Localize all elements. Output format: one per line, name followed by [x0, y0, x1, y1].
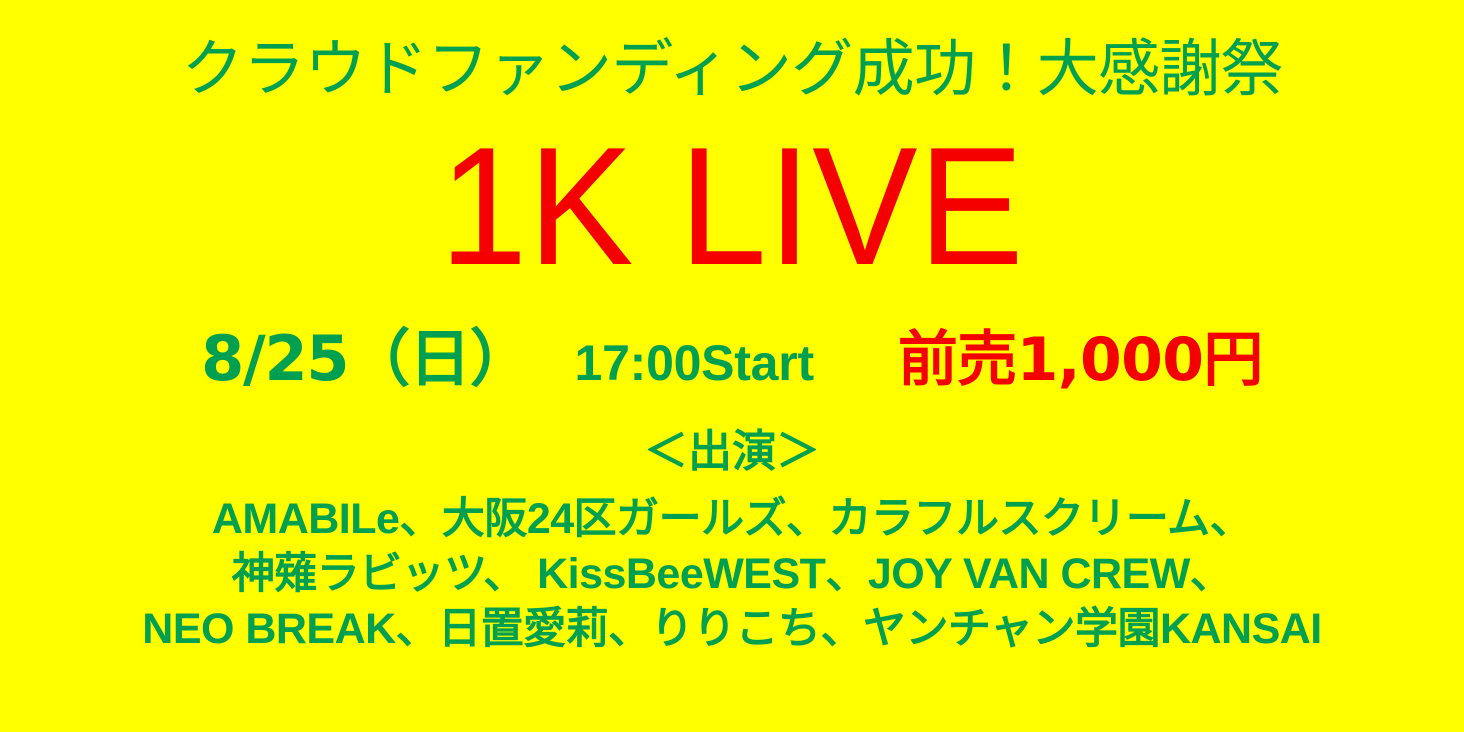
event-date: 8/25（日） — [201, 328, 530, 390]
event-info-row: 8/25（日） 17:00Start 前売1,000円 — [0, 328, 1464, 414]
event-flyer: クラウドファンディング成功！大感謝祭 1K LIVE 8/25（日） 17:00… — [0, 0, 1464, 732]
lineup-line: NEO BREAK、日置愛莉、りりこち、ヤンチャン学園KANSAI — [0, 602, 1464, 657]
event-start-time: 17:00Start — [575, 338, 814, 388]
lineup-line: AMABILe、大阪24区ガールズ、カラフルスクリーム、 — [0, 492, 1464, 547]
catch-copy-heading: クラウドファンディング成功！大感謝祭 — [0, 36, 1464, 101]
lineup-list: AMABILe、大阪24区ガールズ、カラフルスクリーム、 神薙ラビッツ、 Kis… — [0, 492, 1464, 657]
event-title: 1K LIVE — [44, 122, 1420, 290]
lineup-line: 神薙ラビッツ、 KissBeeWEST、JOY VAN CREW、 — [0, 547, 1464, 602]
event-advance-price: 前売1,000円 — [898, 330, 1263, 390]
lineup-heading: ＜出演＞ — [0, 428, 1464, 476]
